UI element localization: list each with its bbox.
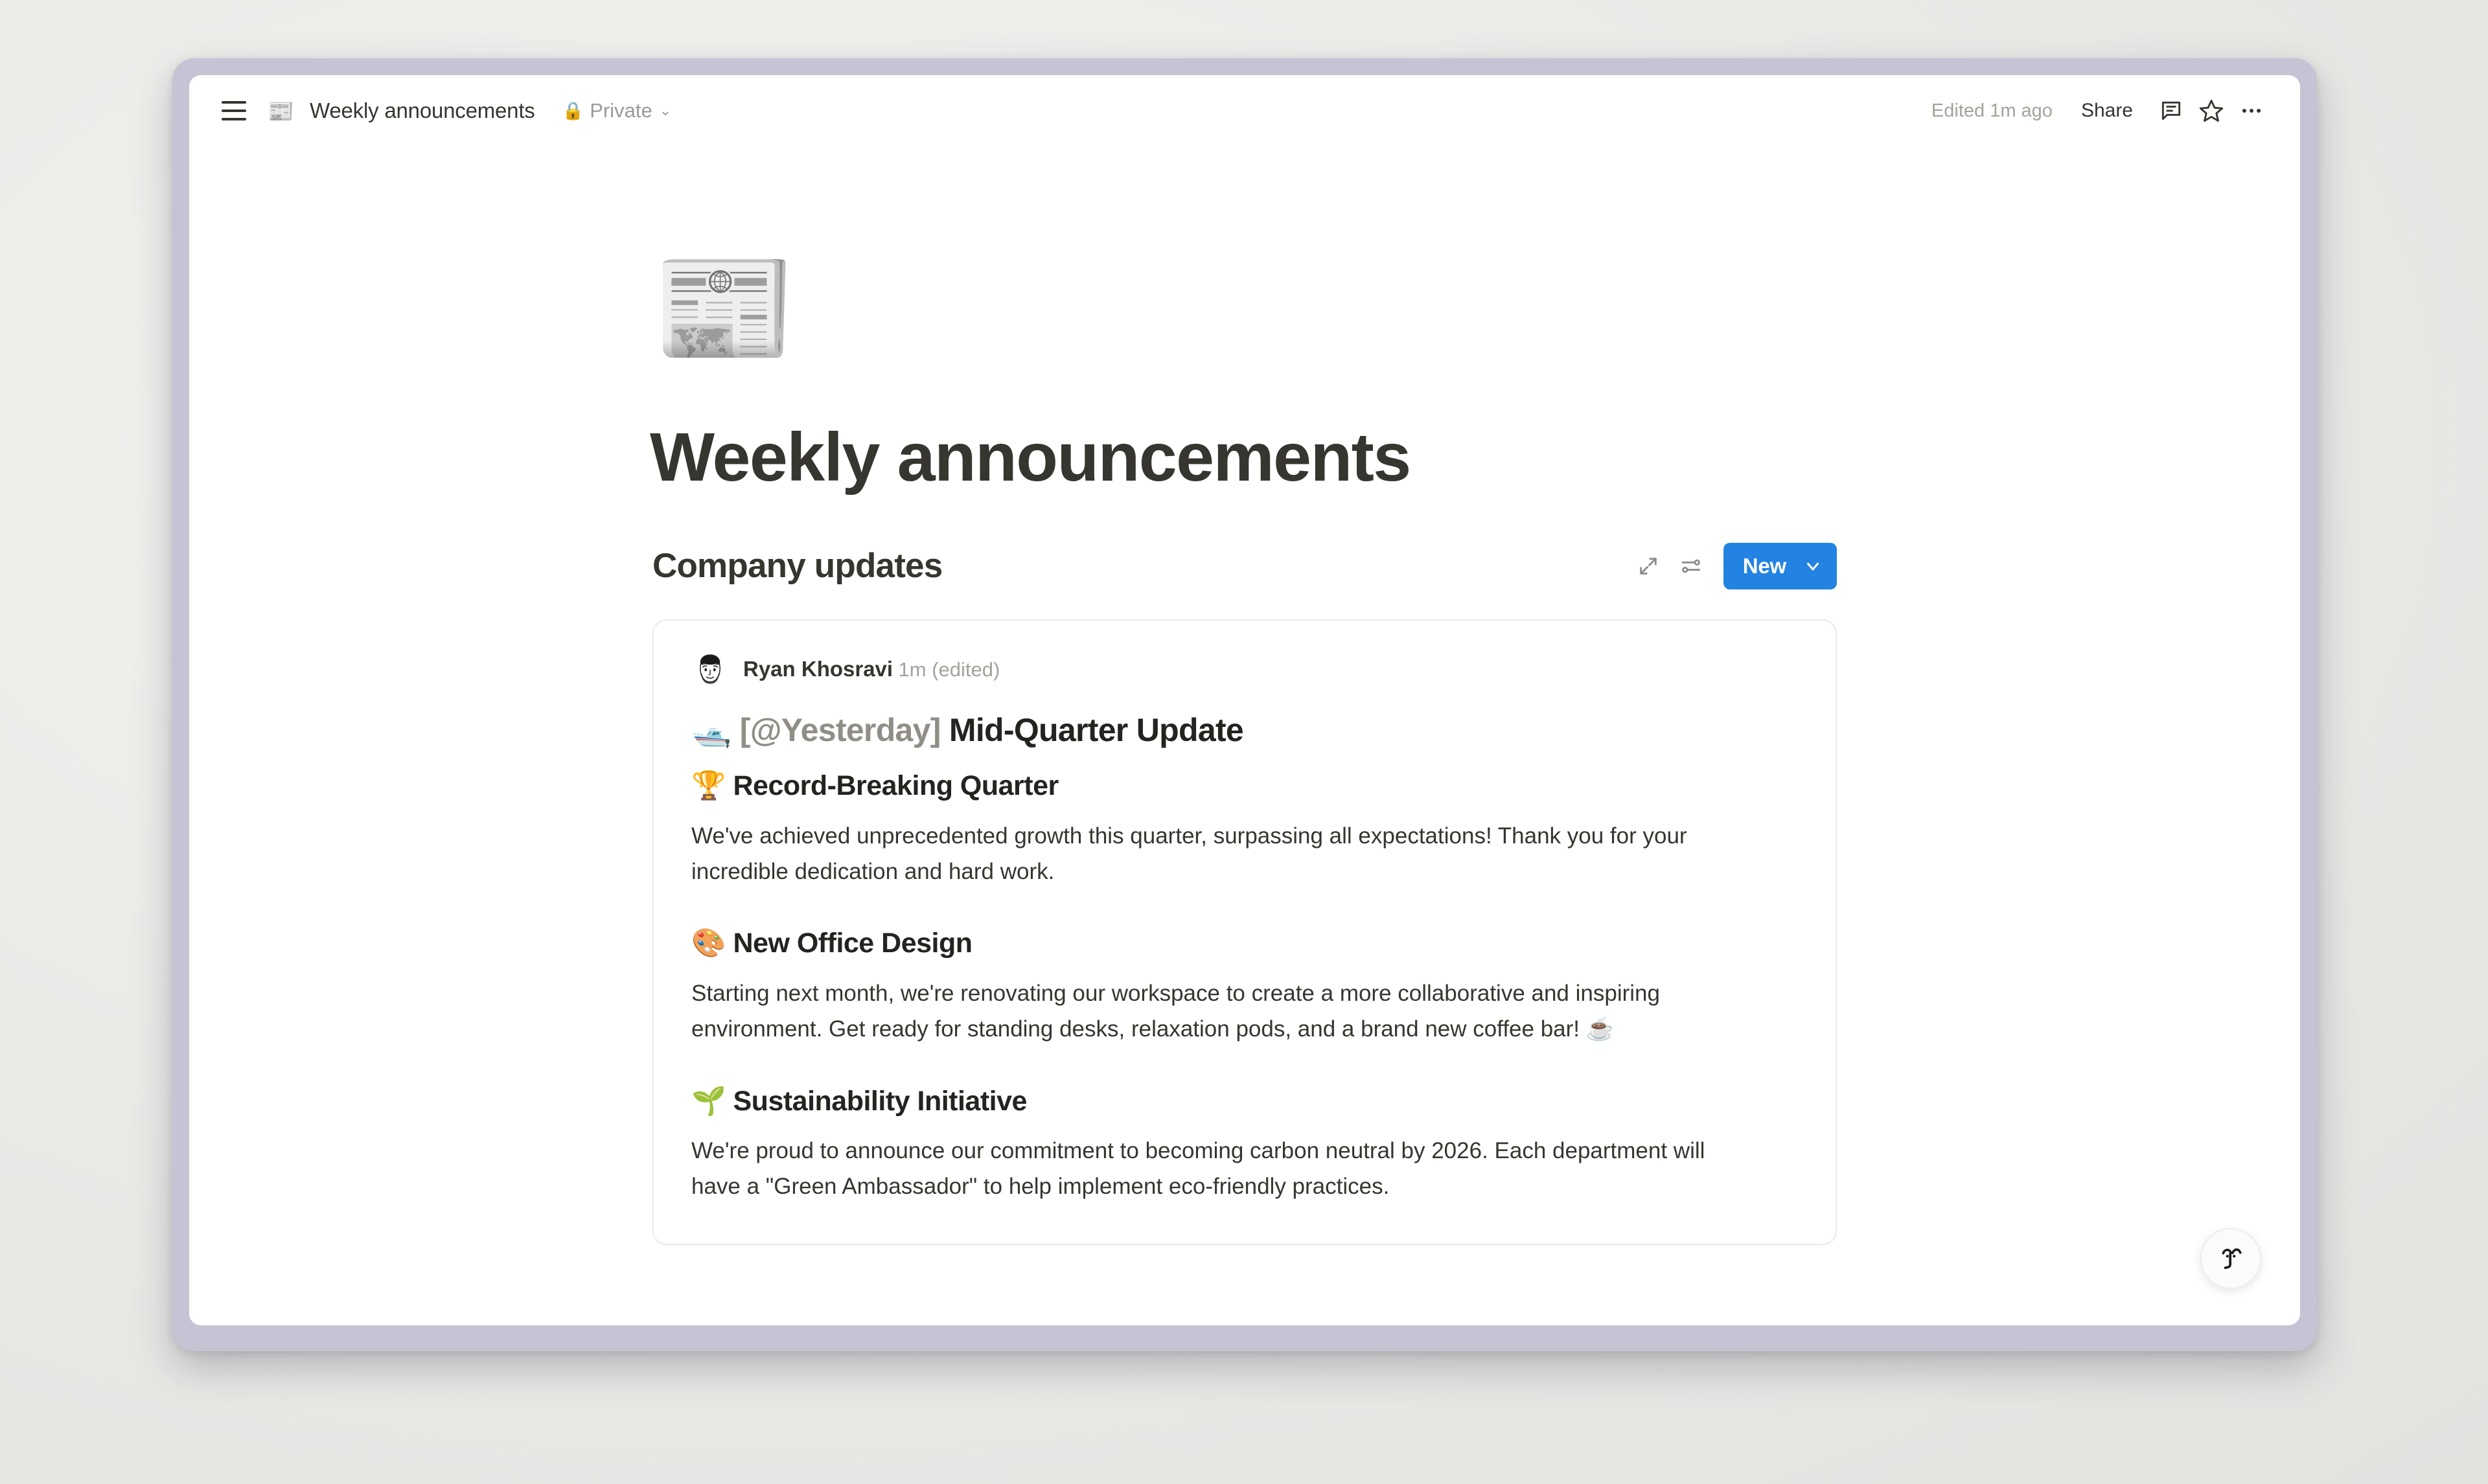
- star-icon[interactable]: [2191, 91, 2231, 131]
- hamburger-line: [222, 118, 246, 120]
- palette-icon: 🎨: [691, 927, 726, 959]
- app-page: 📰 Weekly announcements 🔒 Private ⌄ Edite…: [189, 75, 2300, 1325]
- date-mention[interactable]: [@Yesterday]: [740, 712, 941, 748]
- page-cover-icon[interactable]: 📰: [652, 245, 779, 372]
- section-body[interactable]: We're proud to announce our commitment t…: [691, 1134, 1728, 1204]
- section-heading[interactable]: 🏆 Record-Breaking Quarter: [691, 768, 1798, 805]
- ellipsis-icon[interactable]: [2231, 91, 2272, 131]
- document-scroll-area[interactable]: 📰 Weekly announcements Company updates: [189, 146, 2300, 1325]
- section-heading[interactable]: 🎨 New Office Design: [691, 926, 1798, 962]
- hamburger-menu-icon[interactable]: [214, 91, 254, 131]
- author-name-group: Ryan Khosravi 1m (edited): [743, 657, 1000, 681]
- section-body[interactable]: Starting next month, we're renovating ou…: [691, 976, 1728, 1047]
- chevron-down-icon: ⌄: [660, 102, 671, 119]
- ai-assistant-button[interactable]: [2200, 1228, 2261, 1289]
- database-actions: New: [1629, 543, 1837, 589]
- privacy-label: Private: [590, 99, 652, 122]
- post-section: 🌱 Sustainability Initiative We're proud …: [691, 1084, 1798, 1205]
- sliders-icon[interactable]: [1672, 547, 1710, 586]
- top-bar-left-group: 📰 Weekly announcements 🔒 Private ⌄: [214, 91, 678, 131]
- comment-icon[interactable]: [2151, 91, 2191, 131]
- post-timestamp: 1m (edited): [899, 658, 1000, 681]
- top-bar-right-group: Edited 1m ago Share: [1931, 91, 2272, 131]
- share-button[interactable]: Share: [2072, 95, 2142, 127]
- motorboat-icon: 🛥️: [691, 711, 731, 749]
- avatar[interactable]: [691, 650, 729, 688]
- post-card[interactable]: Ryan Khosravi 1m (edited) 🛥️ [@Yesterday…: [652, 619, 1837, 1245]
- section-heading-text: Record-Breaking Quarter: [733, 770, 1059, 801]
- breadcrumb-page-title[interactable]: Weekly announcements: [303, 95, 542, 127]
- new-button-label: New: [1743, 554, 1786, 578]
- new-button[interactable]: New: [1723, 543, 1837, 589]
- author-name: Ryan Khosravi: [743, 657, 893, 681]
- hamburger-line: [222, 101, 246, 104]
- database-title[interactable]: Company updates: [652, 546, 942, 586]
- chevron-down-icon: [1803, 556, 1823, 576]
- document-content: 📰 Weekly announcements Company updates: [649, 245, 1841, 1245]
- expand-icon[interactable]: [1629, 547, 1668, 586]
- lock-icon: 🔒: [562, 102, 584, 120]
- section-heading[interactable]: 🌱 Sustainability Initiative: [691, 1084, 1798, 1120]
- post-heading-text: Mid-Quarter Update: [949, 712, 1243, 748]
- seedling-icon: 🌱: [691, 1085, 726, 1117]
- top-bar: 📰 Weekly announcements 🔒 Private ⌄ Edite…: [189, 75, 2300, 146]
- post-author-row: Ryan Khosravi 1m (edited): [691, 650, 1798, 688]
- post-section: 🎨 New Office Design Starting next month,…: [691, 926, 1798, 1047]
- section-heading-text: Sustainability Initiative: [733, 1086, 1027, 1117]
- hamburger-line: [222, 109, 246, 112]
- section-body[interactable]: We've achieved unprecedented growth this…: [691, 819, 1728, 889]
- app-window-frame: 📰 Weekly announcements 🔒 Private ⌄ Edite…: [172, 58, 2317, 1351]
- privacy-selector[interactable]: 🔒 Private ⌄: [556, 95, 678, 126]
- post-section: 🏆 Record-Breaking Quarter We've achieved…: [691, 768, 1798, 889]
- trophy-icon: 🏆: [691, 770, 726, 802]
- notion-ai-face-icon: [2214, 1242, 2248, 1275]
- newspaper-icon: 📰: [268, 98, 293, 123]
- database-header: Company updates: [649, 543, 1841, 589]
- last-edited-label[interactable]: Edited 1m ago: [1931, 100, 2053, 122]
- section-heading-text: New Office Design: [733, 928, 973, 959]
- page-title[interactable]: Weekly announcements: [650, 418, 1841, 497]
- post-heading[interactable]: 🛥️ [@Yesterday] Mid-Quarter Update: [691, 710, 1798, 751]
